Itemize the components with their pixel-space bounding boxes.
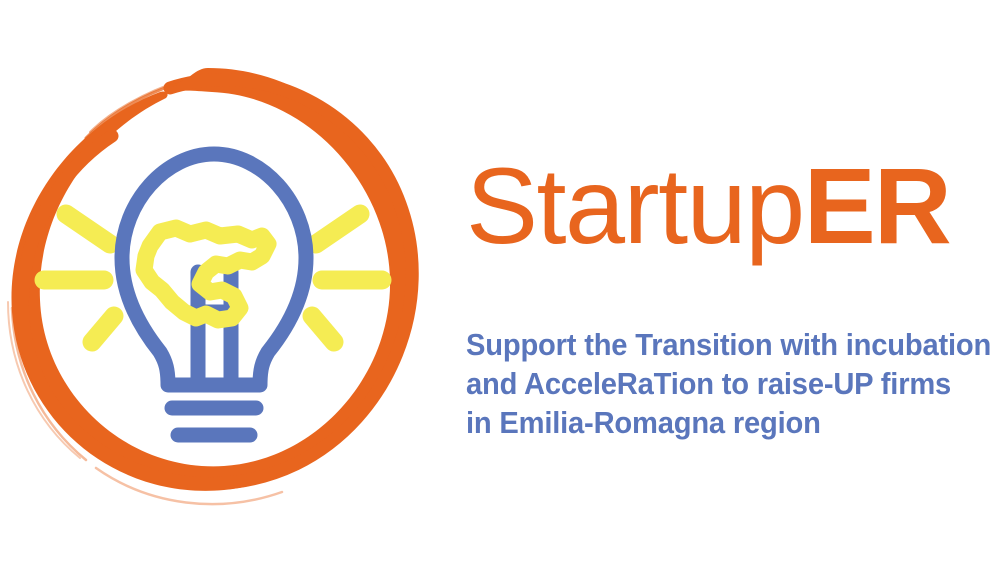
tagline-line-1: Support the Transition with incubation <box>466 326 982 365</box>
light-rays-icon <box>44 214 114 342</box>
tagline: Support the Transition with incubation a… <box>466 326 1000 443</box>
wordmark-startup: Startup <box>466 145 804 266</box>
wordmark-er: ER <box>804 145 950 266</box>
text-block: StartupER Support the Transition with in… <box>466 152 1000 443</box>
wordmark: StartupER <box>466 152 1000 274</box>
light-rays-right-icon <box>312 214 382 342</box>
tagline-line-3: in Emilia-Romagna region <box>466 404 982 443</box>
bulb-base-icon <box>172 408 256 435</box>
tagline-line-2: and AcceleRaTion to raise-UP firms <box>466 365 982 404</box>
logo-canvas: StartupER Support the Transition with in… <box>0 0 1000 588</box>
startuper-emblem <box>0 40 440 550</box>
emilia-romagna-region-icon <box>144 228 268 320</box>
